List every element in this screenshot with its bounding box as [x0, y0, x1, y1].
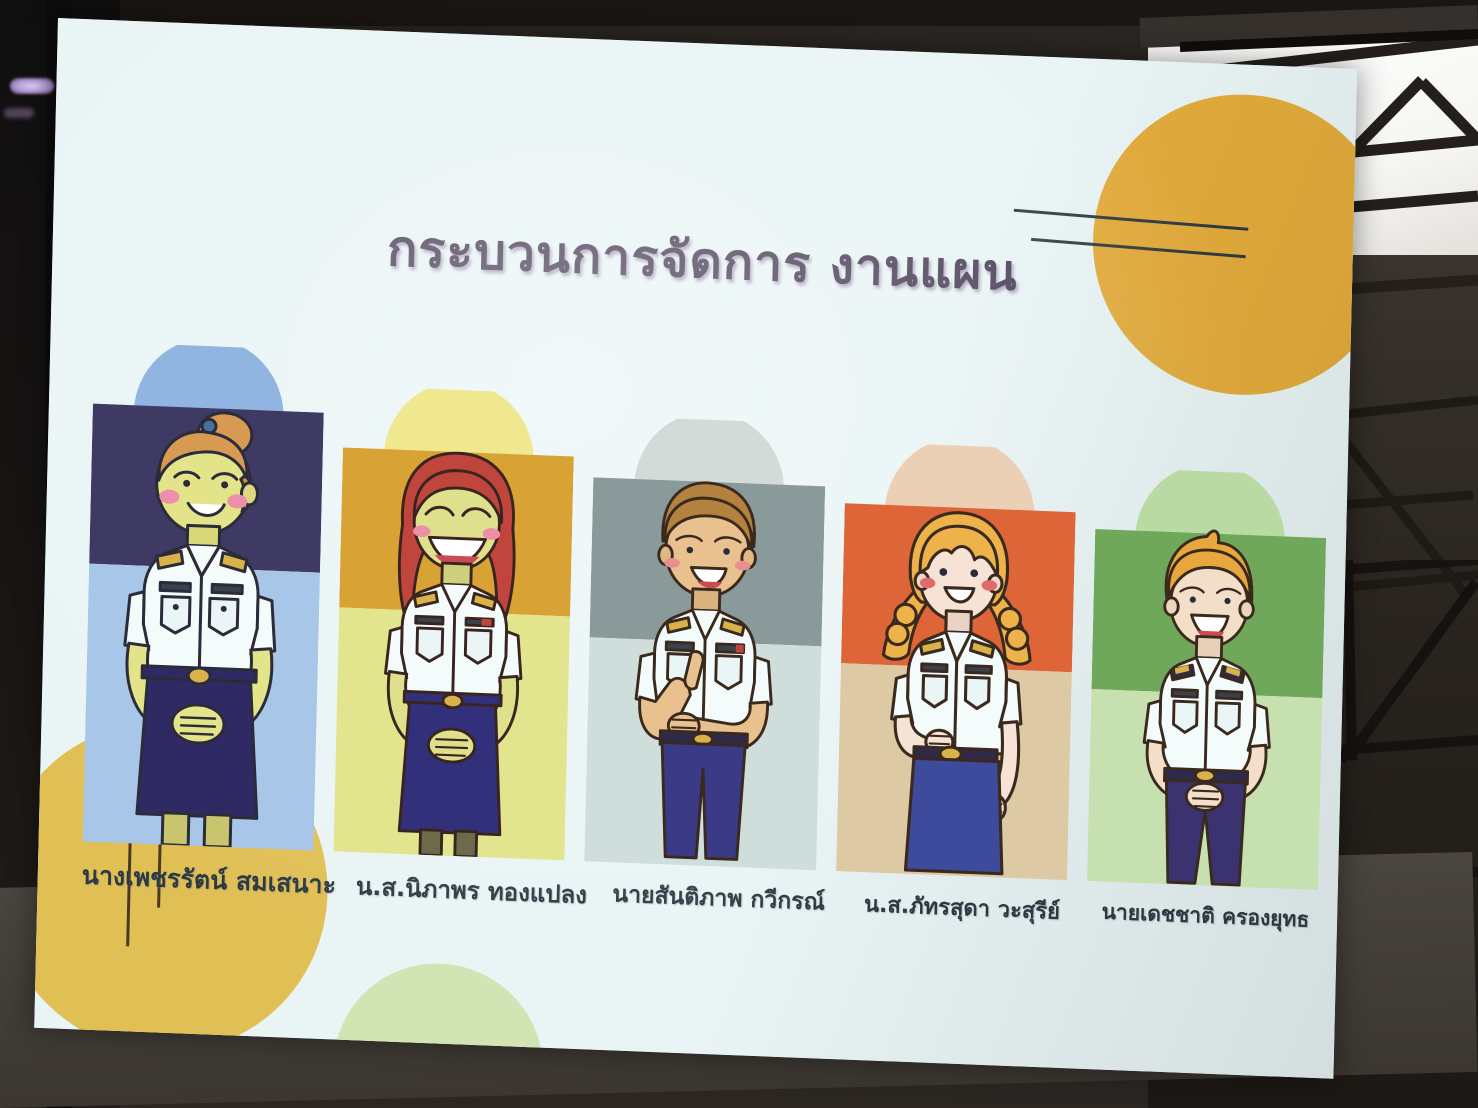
team-member-name: น.ส.ภัทรสุดา วะสุรีย์ [850, 886, 1074, 930]
team-member-name: นางเพชรรัตน์ สมเสนาะ [81, 855, 336, 905]
character-illustration [836, 481, 1076, 880]
team-card-row [83, 342, 1330, 890]
team-member-name: นายสันติภาพ กวีกรณ์ [607, 876, 831, 921]
team-member-name: นายเดชชาติ ครองยุทธ [1093, 895, 1317, 937]
projection-screen: กระบวนการจัดการ งานแผน [34, 18, 1357, 1079]
team-card[interactable] [836, 441, 1077, 880]
character-illustration [585, 455, 826, 870]
projection-screen-wrap: กระบวนการจัดการ งานแผน [0, 0, 1478, 1108]
team-member-name: น.ส.นิภาพร ทองแปลง [355, 866, 587, 914]
character-illustration [334, 425, 575, 860]
decorative-circle-bottom-center [331, 960, 546, 1079]
presentation-slide: กระบวนการจัดการ งานแผน [34, 18, 1357, 1079]
team-card[interactable] [1087, 467, 1328, 890]
team-card[interactable] [585, 415, 827, 870]
character-illustration [1087, 507, 1327, 890]
team-card[interactable] [83, 342, 326, 851]
photo-scene: กระบวนการจัดการ งานแผน [0, 0, 1478, 1108]
character-illustration [83, 382, 325, 851]
team-card[interactable] [334, 385, 576, 860]
